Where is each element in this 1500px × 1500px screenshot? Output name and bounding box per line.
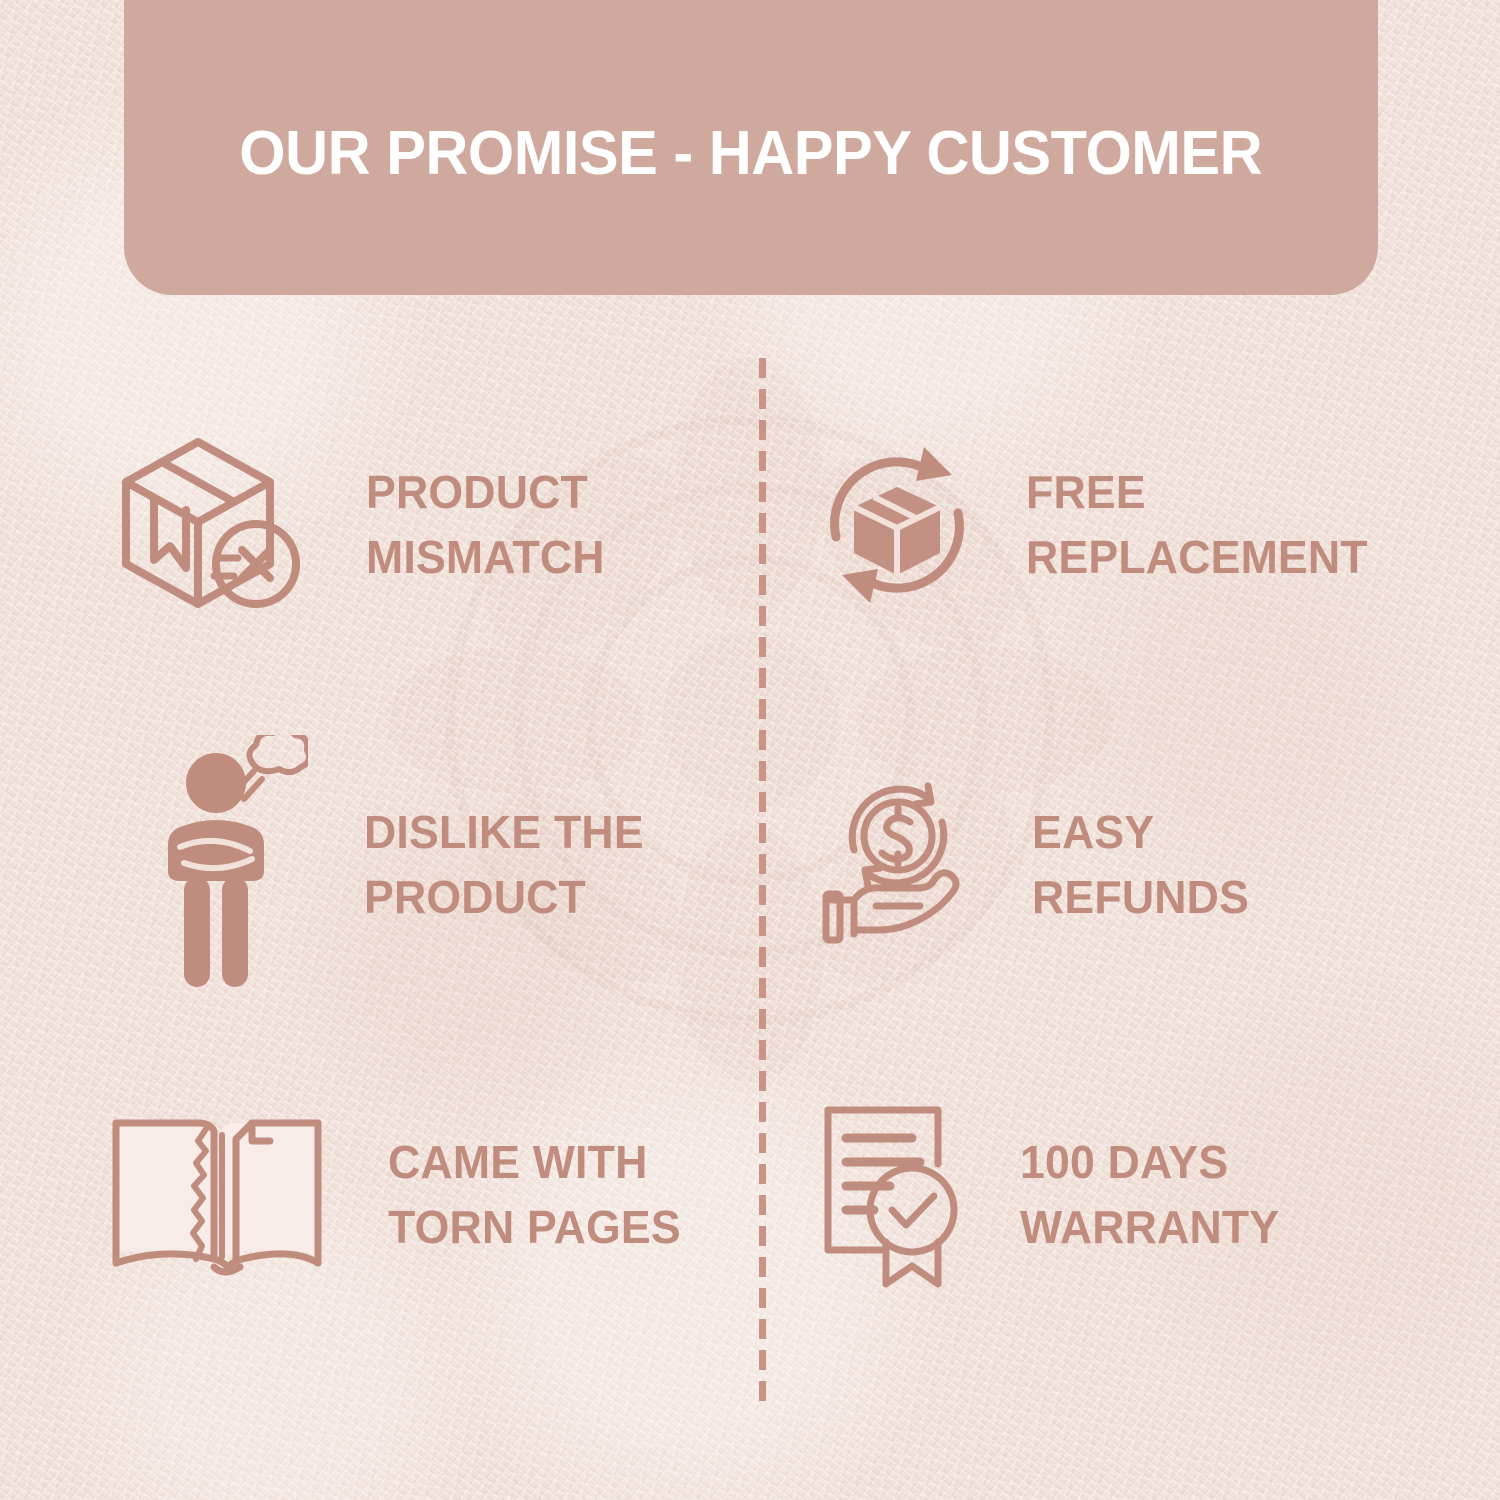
feature-grid: PRODUCT MISMATCH [0,355,1500,1415]
feature-dislike-product: DISLIKE THE PRODUCT [110,725,750,1005]
box-refresh-icon [812,435,982,615]
feature-product-mismatch: PRODUCT MISMATCH [110,400,750,650]
feature-label: 100 DAYS WARRANTY [1020,1130,1279,1261]
certificate-check-icon [816,1100,976,1290]
feature-label: DISLIKE THE PRODUCT [364,800,644,931]
feature-warranty: 100 DAYS WARRANTY [812,1070,1472,1320]
feature-label: PRODUCT MISMATCH [366,460,605,591]
feature-label: FREE REPLACEMENT [1026,460,1368,591]
page-title: OUR PROMISE - HAPPY CUSTOMER [240,118,1263,189]
header-banner: OUR PROMISE - HAPPY CUSTOMER [124,0,1378,295]
hand-money-refund-icon [818,780,988,950]
feature-label: CAME WITH TORN PAGES [388,1130,681,1261]
angry-person-icon [158,735,308,995]
feature-free-replacement: FREE REPLACEMENT [812,400,1472,650]
promise-poster: OUR PROMISE - HAPPY CUSTOMER [0,0,1500,1500]
torn-book-icon [102,1105,332,1285]
feature-label: EASY REFUNDS [1032,800,1249,931]
feature-easy-refunds: EASY REFUNDS [812,725,1472,1005]
feature-torn-pages: CAME WITH TORN PAGES [110,1070,750,1320]
box-mismatch-icon [110,430,310,620]
